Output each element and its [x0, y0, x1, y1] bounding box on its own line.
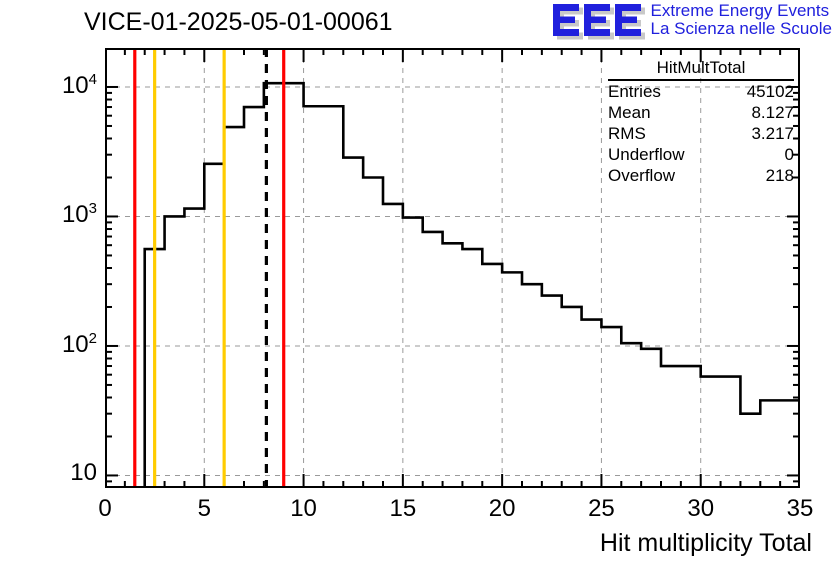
y-tick-label: 10 [1, 459, 97, 487]
x-tick-label: 25 [561, 495, 641, 523]
stats-row-value: 45102 [747, 82, 794, 102]
x-tick-label: 0 [65, 495, 145, 523]
eee-logo-line2: La Scienza nelle Scuole [651, 20, 832, 38]
stats-row-key: Underflow [608, 145, 685, 165]
stats-row: Entries45102 [608, 81, 794, 102]
stats-box: HitMultTotal Entries45102Mean8.127RMS3.2… [608, 58, 794, 186]
x-tick-label: 5 [164, 495, 244, 523]
y-tick-label: 104 [1, 71, 97, 100]
page-title: VICE-01-2025-05-01-00061 [84, 8, 393, 37]
eee-logo-line1: Extreme Energy Events [651, 2, 832, 20]
x-tick-label: 10 [264, 495, 344, 523]
eee-logo-text: Extreme Energy Events La Scienza nelle S… [651, 2, 832, 37]
x-tick-label: 30 [661, 495, 741, 523]
eee-logo: Extreme Energy Events La Scienza nelle S… [553, 2, 832, 44]
eee-logo-mark [553, 2, 645, 42]
y-tick-label: 102 [1, 330, 97, 359]
stats-row-key: Entries [608, 82, 661, 102]
stats-row-value: 3.217 [751, 124, 794, 144]
stats-row-value: 0 [785, 145, 794, 165]
stats-row-value: 218 [766, 166, 794, 186]
eee-logo-spine [615, 4, 622, 36]
stats-row-value: 8.127 [751, 103, 794, 123]
eee-logo-spine [584, 4, 591, 36]
stats-row-key: RMS [608, 124, 646, 144]
x-tick-label: 20 [462, 495, 542, 523]
eee-logo-glyphs [553, 2, 645, 42]
x-tick-label: 35 [760, 495, 836, 523]
stats-box-rows: Entries45102Mean8.127RMS3.217Underflow0O… [608, 81, 794, 186]
stats-row: Overflow218 [608, 165, 794, 186]
y-tick-label: 103 [1, 200, 97, 229]
stats-row-key: Mean [608, 103, 651, 123]
root-canvas: VICE-01-2025-05-01-00061 Extreme Energy … [0, 0, 836, 572]
stats-row: Mean8.127 [608, 102, 794, 123]
stats-box-title: HitMultTotal [608, 58, 794, 81]
x-axis-title: Hit multiplicity Total [600, 529, 812, 558]
eee-logo-spine [553, 4, 560, 36]
stats-row: RMS3.217 [608, 123, 794, 144]
stats-row: Underflow0 [608, 144, 794, 165]
stats-row-key: Overflow [608, 166, 675, 186]
x-tick-label: 15 [363, 495, 443, 523]
